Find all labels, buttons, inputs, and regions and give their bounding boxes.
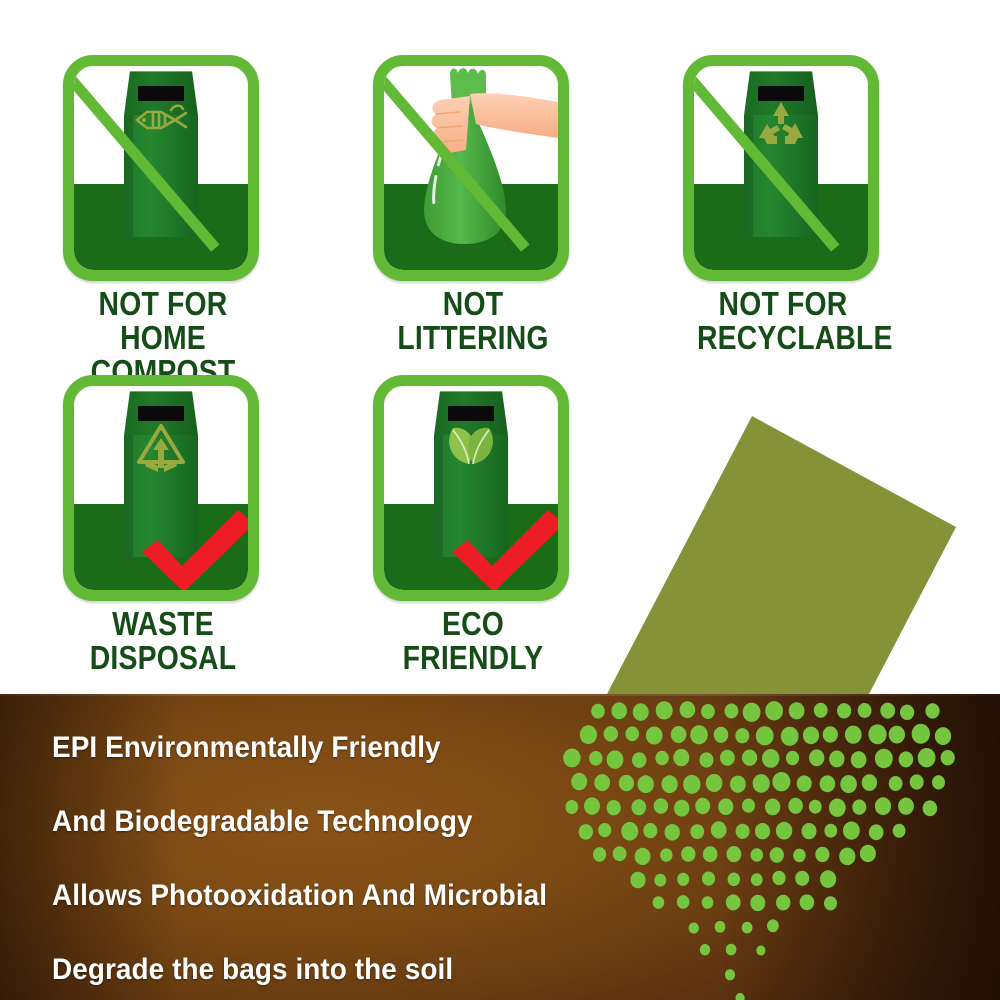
particle-dot — [714, 727, 729, 743]
particle-dot — [753, 774, 770, 793]
fishbone-icon — [131, 100, 191, 140]
particle-dot — [735, 728, 749, 743]
particle-dot — [880, 703, 895, 719]
particle-dot — [829, 751, 844, 768]
particle-dot — [633, 703, 649, 720]
particle-dot — [767, 919, 779, 932]
particle-dot — [900, 705, 914, 720]
particle-dot — [839, 848, 855, 866]
particle-dot — [703, 846, 718, 862]
particle-dot — [632, 799, 647, 815]
particle-dot — [718, 798, 733, 815]
particle-dot — [661, 775, 677, 793]
particle-dot — [923, 800, 938, 816]
particle-dot — [653, 896, 665, 909]
particle-dot — [725, 704, 739, 719]
particle-dot — [843, 822, 860, 840]
particle-dot — [781, 727, 799, 746]
particle-dot — [789, 702, 805, 719]
particle-dot — [802, 823, 817, 839]
particle-dot — [730, 776, 746, 793]
icon-card-not-littering: NOT LITTERING — [373, 55, 573, 281]
particle-dot — [563, 749, 580, 768]
particle-dot — [725, 969, 735, 980]
particle-dot — [702, 896, 714, 909]
particle-dot — [654, 798, 668, 814]
recycle-icon — [755, 100, 807, 150]
particle-dot — [815, 847, 829, 862]
particle-dot — [706, 774, 723, 792]
particle-dot — [715, 921, 726, 933]
particle-dot — [776, 822, 792, 840]
particle-dot — [899, 751, 914, 767]
particle-dot — [674, 800, 689, 817]
particle-dot — [607, 750, 624, 768]
particle-dot — [797, 775, 812, 791]
particle-dot — [772, 871, 785, 885]
particle-dot — [869, 824, 884, 840]
particle-dot — [736, 993, 745, 1000]
particle-dot — [875, 797, 891, 815]
particle-dot — [845, 726, 862, 744]
particle-dot — [584, 797, 600, 814]
particle-dot — [823, 726, 838, 742]
particle-dot — [765, 799, 780, 816]
particle-dot — [925, 703, 939, 718]
particle-dot — [579, 824, 593, 840]
particle-dot — [820, 870, 836, 888]
particle-dot — [700, 944, 710, 955]
particle-dot — [655, 751, 668, 766]
particle-dot — [862, 774, 877, 791]
particle-dot — [918, 748, 936, 767]
particle-dot — [702, 872, 715, 886]
particle-dot — [793, 849, 806, 863]
particle-dot — [786, 751, 799, 765]
particle-dot — [680, 701, 696, 718]
particle-dot — [728, 873, 740, 887]
particle-dot — [935, 727, 951, 745]
particle-dot — [638, 775, 654, 793]
particle-dot — [898, 798, 914, 815]
particle-dot — [654, 874, 666, 887]
particle-dot — [824, 896, 837, 910]
particle-dot — [646, 727, 663, 745]
particle-dot — [742, 799, 755, 813]
particle-dot — [858, 703, 872, 718]
particle-dot — [756, 726, 774, 745]
particle-dot — [700, 752, 714, 767]
particle-dot — [591, 704, 605, 719]
particle-dot — [756, 946, 765, 956]
particle-dot — [565, 800, 578, 814]
particle-dot — [803, 727, 819, 745]
particle-dot — [656, 701, 673, 719]
particle-dot — [621, 822, 638, 841]
particle-dot — [660, 848, 672, 861]
particle-dot — [635, 848, 651, 865]
particle-dot — [755, 823, 770, 839]
particle-dot — [941, 750, 955, 765]
particle-dot — [677, 895, 690, 909]
particle-dot — [889, 726, 905, 744]
particle-dot — [910, 774, 924, 789]
particle-dot — [727, 846, 742, 862]
particle-dot — [619, 775, 634, 791]
particle-dot — [689, 923, 699, 934]
particle-dot — [683, 775, 700, 794]
particle-dot — [772, 772, 790, 791]
particle-dot — [711, 821, 727, 838]
particle-dot — [673, 749, 689, 766]
soil-panel: EPI Environmentally Friendly And Biodegr… — [0, 694, 1000, 1000]
particle-dot — [750, 895, 765, 911]
particle-dot — [751, 873, 763, 886]
particle-dot — [630, 872, 645, 889]
approved-check-icon — [138, 506, 248, 590]
particle-dot — [814, 703, 828, 718]
particle-dot — [594, 774, 610, 791]
recycle-triangle-arrow-icon — [133, 420, 189, 476]
particle-dot — [625, 726, 639, 741]
particle-dot — [598, 823, 611, 837]
particle-dot — [809, 800, 822, 814]
particle-dot — [762, 749, 779, 768]
particle-dot — [720, 750, 735, 766]
icon-frame — [373, 55, 569, 281]
particle-dot — [788, 798, 803, 814]
particle-dot — [795, 871, 809, 886]
particle-dot — [611, 702, 627, 719]
particle-dot — [593, 847, 606, 861]
particle-dot — [589, 751, 602, 766]
particle-dot — [742, 922, 753, 934]
particle-dot — [820, 775, 836, 792]
particle-dot — [742, 750, 757, 766]
particle-dot — [824, 824, 837, 838]
particle-dot — [726, 944, 737, 956]
particle-dot — [665, 824, 680, 841]
particle-dot — [765, 701, 783, 720]
particle-dot — [800, 894, 815, 910]
particle-dot — [607, 800, 621, 815]
approved-check-icon — [448, 506, 558, 590]
particle-dot — [690, 725, 708, 744]
particle-dot — [809, 749, 824, 766]
particle-dot — [932, 775, 945, 789]
particle-dot — [726, 894, 741, 910]
garbage-bag-icon — [384, 66, 558, 270]
particle-dot — [875, 749, 893, 769]
degrading-particles — [0, 694, 1000, 1000]
particle-dot — [643, 823, 657, 838]
particle-dot — [889, 776, 903, 791]
particle-dot — [840, 775, 857, 793]
particle-dot — [743, 703, 761, 722]
particle-dot — [671, 726, 687, 743]
particle-dot — [912, 724, 930, 744]
particle-dot — [770, 847, 784, 862]
particle-dot — [613, 846, 627, 861]
particle-dot — [632, 752, 646, 768]
particle-dot — [893, 824, 906, 838]
particle-dot — [851, 751, 867, 768]
particle-dot — [837, 703, 851, 718]
particle-dot — [701, 704, 715, 719]
particle-dot — [860, 845, 876, 862]
particle-dot — [751, 848, 764, 862]
particle-dot — [868, 724, 886, 744]
particle-dot — [677, 873, 689, 886]
poster-root: NOT FOR HOME COMPOST — [0, 0, 1000, 1000]
particle-dot — [681, 846, 695, 862]
particle-dot — [776, 895, 790, 911]
particle-dot — [690, 824, 704, 839]
particle-dot — [736, 824, 750, 839]
particle-dot — [571, 773, 587, 790]
leaves-icon — [443, 420, 499, 466]
particle-dot — [604, 726, 618, 742]
particle-dot — [852, 800, 866, 815]
particle-dot — [829, 799, 846, 817]
particle-dot — [580, 725, 597, 744]
particle-dot — [695, 798, 710, 814]
